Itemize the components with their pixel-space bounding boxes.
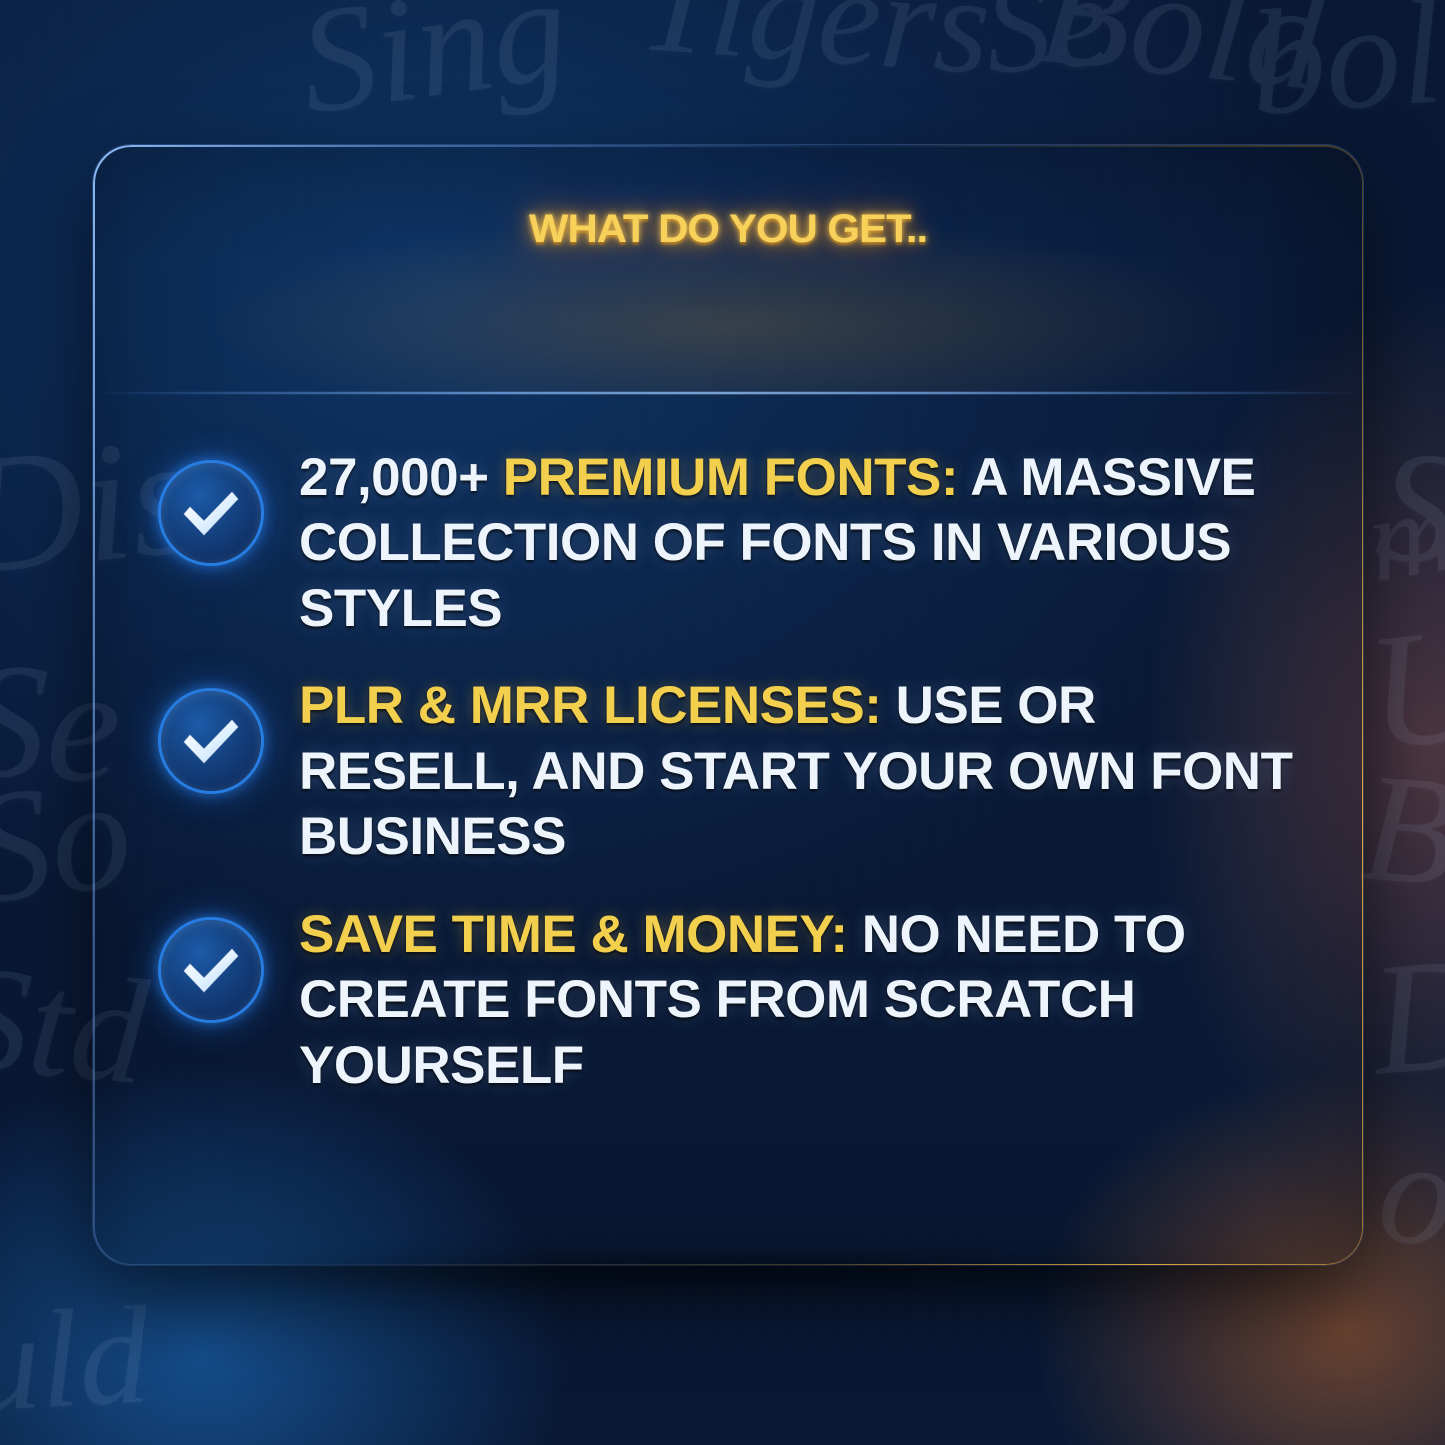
background-letter: Se: [980, 0, 1114, 95]
check-circle-icon: [161, 920, 261, 1020]
list-item-highlight: SAVE TIME & MONEY:: [299, 905, 848, 964]
benefits-card: WHAT DO YOU GET..: [93, 145, 1363, 1265]
background-letter: DD: [1365, 920, 1445, 1100]
list-item-text: PLR & MRR LICENSES: USE OR RESELL, AND S…: [299, 673, 1301, 869]
background-letter: mo: [1360, 459, 1445, 600]
background-letter: Tigers: [636, 0, 995, 97]
background-letter: of: [1372, 1114, 1445, 1275]
background-letter: Bold: [1033, 0, 1330, 114]
background-letter: uld: [0, 1285, 152, 1434]
list-item-highlight: PREMIUM FONTS:: [503, 448, 958, 507]
background-letter: Sc: [1371, 424, 1445, 597]
background-letter: UT: [1360, 589, 1445, 775]
list-item-highlight: PLR & MRR LICENSES:: [299, 676, 881, 735]
list-item: 27,000+ PREMIUM FONTS: A MASSIVE COLLECT…: [161, 445, 1301, 641]
background-letter: Sing: [291, 0, 576, 138]
title-glow-field: [93, 145, 1363, 395]
list-item-text: 27,000+ PREMIUM FONTS: A MASSIVE COLLECT…: [299, 445, 1301, 641]
page-title: WHAT DO YOU GET..: [93, 209, 1363, 249]
list-item: PLR & MRR LICENSES: USE OR RESELL, AND S…: [161, 673, 1301, 869]
background-letter: BCD: [1357, 749, 1445, 925]
list-item-lead: 27,000+: [299, 448, 503, 507]
check-circle-icon: [161, 463, 261, 563]
background-letter: bolo: [1245, 0, 1445, 139]
list-item: SAVE TIME & MONEY: NO NEED TO CREATE FON…: [161, 902, 1301, 1098]
poster-canvas: SingTigersSeBoldboloDisSeSoStduldScUTBCD…: [0, 0, 1445, 1445]
check-circle-icon: [161, 691, 261, 791]
title-divider: [93, 392, 1363, 394]
benefits-list: 27,000+ PREMIUM FONTS: A MASSIVE COLLECT…: [93, 445, 1363, 1098]
list-item-text: SAVE TIME & MONEY: NO NEED TO CREATE FON…: [299, 902, 1301, 1098]
